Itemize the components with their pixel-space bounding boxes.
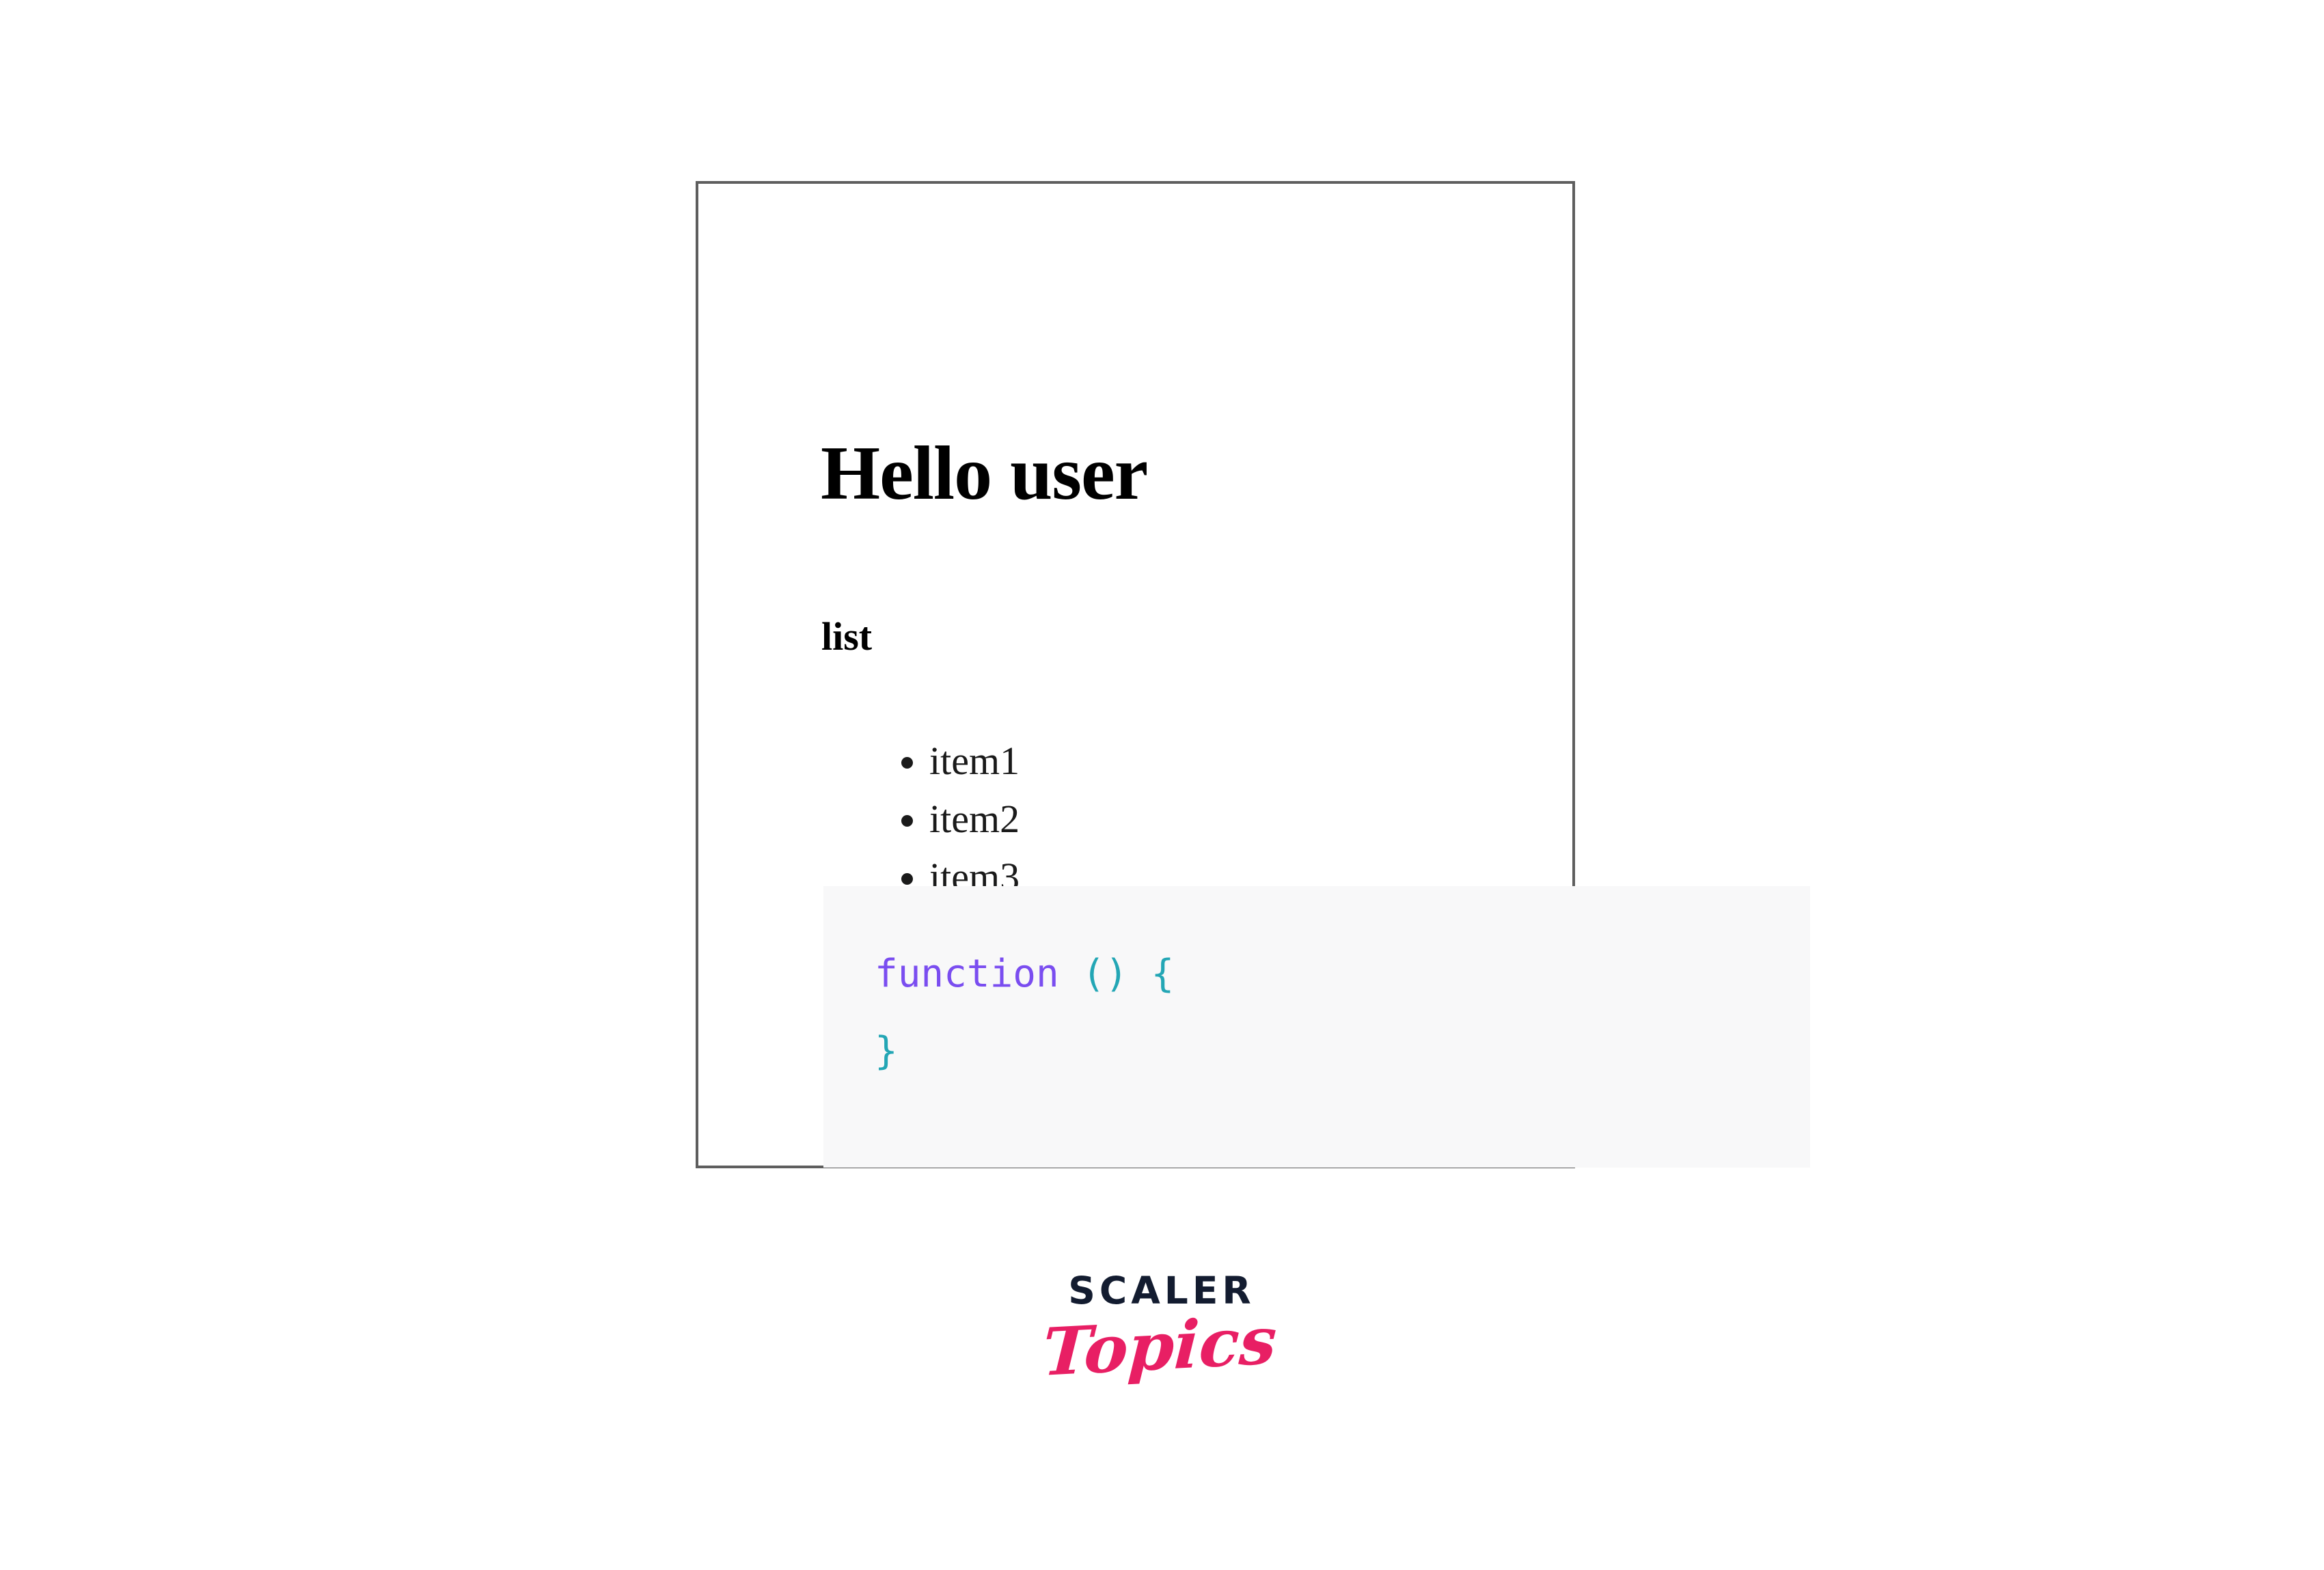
page-content: Hello user list item1 item2 item3 item4 … xyxy=(698,184,1578,1166)
code-token-space xyxy=(1059,952,1082,996)
code-token-punctuation: () { xyxy=(1082,952,1174,996)
code-token-keyword: function xyxy=(875,952,1059,996)
code-block: function () { } xyxy=(823,886,1810,1168)
list-item: item2 xyxy=(929,790,1020,848)
brand-wordmark-topics: Topics xyxy=(1038,1308,1281,1386)
rendered-page-frame: Hello user list item1 item2 item3 item4 … xyxy=(696,181,1575,1168)
page-title: Hello user xyxy=(821,435,1147,512)
code-content: function () { } xyxy=(875,952,1174,1073)
code-token-closing-brace: } xyxy=(875,1029,898,1073)
list-section-heading: list xyxy=(821,617,872,657)
scaler-topics-logo: SCALER Topics xyxy=(1040,1272,1279,1422)
list-item: item1 xyxy=(929,732,1020,790)
